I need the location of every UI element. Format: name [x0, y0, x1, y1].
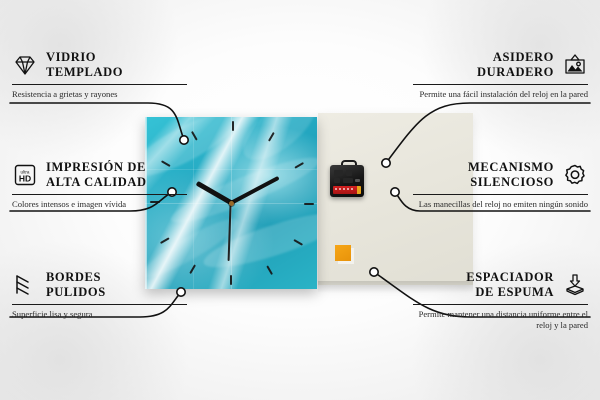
callout-divider: [413, 194, 588, 195]
clock-tick: [230, 275, 232, 285]
clock-tick: [232, 121, 234, 131]
polished-edges-icon: [12, 273, 38, 297]
callout-asidero-duradero[interactable]: ASIDERO DURADERO Permite una fácil insta…: [413, 50, 588, 100]
callout-divider: [12, 304, 187, 305]
callout-description: Permite una fácil instalación del reloj …: [413, 89, 588, 101]
callout-title: VIDRIO TEMPLADO: [46, 50, 123, 80]
battery-positive-tip: [357, 186, 361, 194]
callout-divider: [12, 194, 187, 195]
callout-header: VIDRIO TEMPLADO: [12, 50, 187, 80]
infographic-canvas: VIDRIO TEMPLADO Resistencia a grietas y …: [0, 0, 600, 400]
callout-bordes-pulidos[interactable]: BORDES PULIDOS Superficie lisa y segura: [12, 270, 187, 320]
callout-title: BORDES PULIDOS: [46, 270, 106, 300]
callout-espaciador-de-espuma[interactable]: ESPACIADOR DE ESPUMA Permite mantener un…: [413, 270, 588, 332]
clock-movement: [330, 165, 364, 197]
callout-title: ASIDERO DURADERO: [477, 50, 554, 80]
foam-spacer-pad: [335, 245, 351, 261]
callout-title: MECANISMO SILENCIOSO: [468, 160, 554, 190]
clock-tick: [304, 203, 314, 205]
callout-header: ultra HD IMPRESIÓN DE ALTA CALIDAD: [12, 160, 187, 190]
glass-seam-vertical-2: [193, 117, 194, 289]
callout-title: ESPACIADOR DE ESPUMA: [466, 270, 554, 300]
callout-vidrio-templado[interactable]: VIDRIO TEMPLADO Resistencia a grietas y …: [12, 50, 187, 100]
clock-center-pin: [229, 201, 234, 206]
callout-description: Colores intensos e imagen vívida: [12, 199, 187, 211]
callout-description: Permite mantener una distancia uniforme …: [413, 309, 588, 332]
callout-impresion-alta-calidad[interactable]: ultra HD IMPRESIÓN DE ALTA CALIDAD Color…: [12, 160, 187, 210]
callout-header: MECANISMO SILENCIOSO: [413, 160, 588, 190]
movement-body: [330, 165, 364, 197]
clock-tick: [266, 265, 273, 275]
gear-icon: [562, 163, 588, 187]
hanging-frame-icon: [562, 53, 588, 77]
callout-title: IMPRESIÓN DE ALTA CALIDAD: [46, 160, 147, 190]
callout-description: Las manecillas del reloj no emiten ningú…: [413, 199, 588, 211]
callout-mecanismo-silencioso[interactable]: MECANISMO SILENCIOSO Las manecillas del …: [413, 160, 588, 210]
battery-label-marks: [335, 188, 355, 190]
foam-spacer-icon: [562, 273, 588, 297]
callout-divider: [413, 304, 588, 305]
clock-tick: [160, 237, 170, 244]
callout-description: Resistencia a grietas y rayones: [12, 89, 187, 101]
callout-header: ESPACIADOR DE ESPUMA: [413, 270, 588, 300]
movement-battery: [333, 186, 361, 194]
svg-text:HD: HD: [19, 173, 31, 183]
callout-divider: [413, 84, 588, 85]
callout-description: Superficie lisa y segura: [12, 309, 187, 321]
diamond-icon: [12, 53, 38, 77]
callout-header: ASIDERO DURADERO: [413, 50, 588, 80]
ultra-hd-icon: ultra HD: [12, 163, 38, 187]
callout-divider: [12, 84, 187, 85]
callout-header: BORDES PULIDOS: [12, 270, 187, 300]
